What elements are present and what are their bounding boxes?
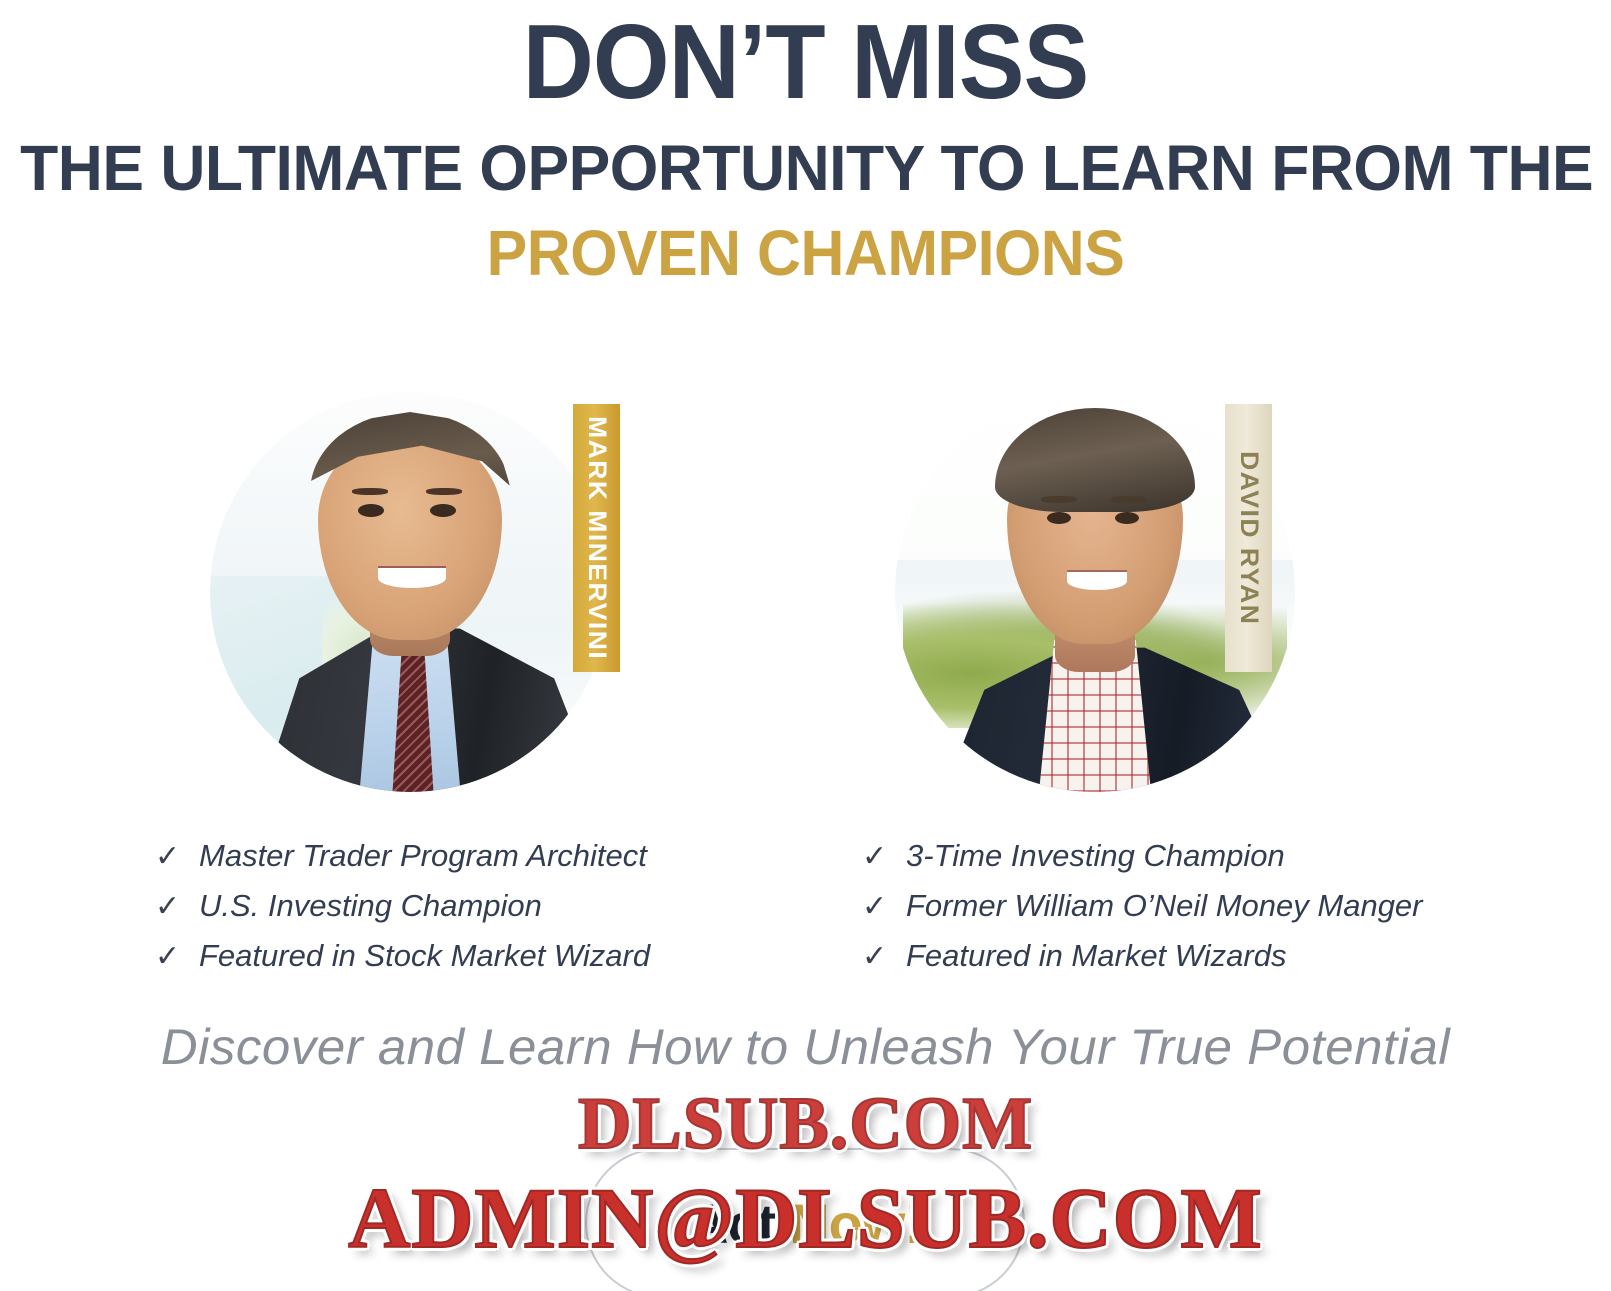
check-icon: ✓ (862, 892, 906, 922)
watermark-site: DLSUB.COM (578, 1082, 1033, 1167)
list-item: ✓ U.S. Investing Champion (155, 890, 815, 940)
photo-eyebrow-left (1041, 496, 1077, 503)
check-icon: ✓ (155, 942, 199, 972)
credentials-list-david-ryan: ✓ 3-Time Investing Champion ✓ Former Wil… (862, 840, 1542, 990)
credential-text: Featured in Stock Market Wizard (199, 940, 650, 971)
tagline: Discover and Learn How to Unleash Your T… (0, 1018, 1611, 1076)
credential-text: U.S. Investing Champion (199, 890, 542, 921)
photo-eye-left (358, 504, 384, 517)
credential-text: Former William O’Neil Money Manger (906, 890, 1423, 921)
credentials-list-mark-minervini: ✓ Master Trader Program Architect ✓ U.S.… (155, 840, 815, 990)
list-item: ✓ Former William O’Neil Money Manger (862, 890, 1542, 940)
name-ribbon-david-ryan: DAVID RYAN (1225, 404, 1272, 672)
portrait-photo-mark-minervini (210, 392, 610, 792)
photo-eye-right (430, 504, 456, 517)
check-icon: ✓ (155, 842, 199, 872)
check-icon: ✓ (862, 842, 906, 872)
photo-hair (995, 408, 1195, 512)
avatar (210, 392, 610, 792)
headline-block: DON’T MISS THE ULTIMATE OPPORTUNITY TO L… (0, 0, 1611, 288)
check-icon: ✓ (862, 942, 906, 972)
photo-eyebrow-right (1111, 496, 1147, 503)
headline-subtitle: THE ULTIMATE OPPORTUNITY TO LEARN FROM T… (20, 134, 1591, 203)
list-item: ✓ 3-Time Investing Champion (862, 840, 1542, 890)
speaker-card-mark-minervini: MARK MINERVINI (195, 370, 615, 840)
speakers-section: MARK MINERVINI DAVID RYAN (0, 370, 1611, 850)
speaker-card-david-ryan: DAVID RYAN (880, 370, 1300, 840)
photo-eyebrow-left (352, 488, 388, 495)
photo-face (318, 432, 502, 640)
name-ribbon-mark-minervini: MARK MINERVINI (573, 404, 620, 672)
photo-eye-left (1047, 512, 1071, 524)
credential-text: Master Trader Program Architect (199, 840, 647, 871)
photo-smile (378, 568, 446, 588)
page-title: DON’T MISS (56, 8, 1554, 116)
list-item: ✓ Featured in Stock Market Wizard (155, 940, 815, 990)
credential-text: 3-Time Investing Champion (906, 840, 1285, 871)
speaker-name-label: DAVID RYAN (1234, 451, 1263, 625)
photo-eye-right (1115, 512, 1139, 524)
list-item: ✓ Featured in Market Wizards (862, 940, 1542, 990)
speaker-name-label: MARK MINERVINI (582, 416, 611, 660)
watermark-email: ADMIN@DLSUB.COM (348, 1168, 1262, 1268)
list-item: ✓ Master Trader Program Architect (155, 840, 815, 890)
photo-eyebrow-right (426, 488, 462, 495)
check-icon: ✓ (155, 892, 199, 922)
headline-accent: PROVEN CHAMPIONS (40, 219, 1570, 288)
photo-smile (1067, 572, 1127, 590)
credential-text: Featured in Market Wizards (906, 940, 1286, 971)
